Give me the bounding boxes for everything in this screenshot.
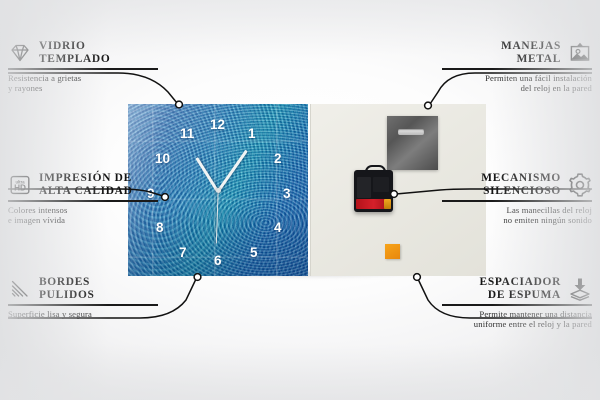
clock-numeral-10: 10	[155, 152, 170, 166]
feature-divider	[8, 200, 158, 201]
feature-bordes-pulidos[interactable]: BORDES PULIDOS Superficie lisa y segura	[8, 276, 158, 319]
battery-cap	[384, 199, 391, 209]
clock-numeral-1: 1	[248, 127, 256, 141]
diamond-icon	[8, 41, 32, 65]
feature-manejas-metal[interactable]: MANEJAS METAL Permiten una fácil instala…	[442, 40, 592, 94]
feature-title: MANEJAS METAL	[501, 40, 561, 65]
feature-divider	[8, 68, 158, 69]
feature-mecanismo-silencioso[interactable]: MECANISMO SILENCIOSO Las manecillas del …	[442, 172, 592, 226]
feature-title: ESPACIADOR DE ESPUMA	[480, 276, 561, 301]
clock-numeral-5: 5	[250, 246, 258, 260]
feature-header: MECANISMO SILENCIOSO	[442, 172, 592, 197]
hanger-keyhole-slot	[398, 129, 424, 135]
clock-numeral-11: 11	[180, 127, 194, 141]
metal-hanger-plate	[387, 116, 438, 170]
feature-description: Colores intensos e imagen vívida	[8, 205, 158, 226]
picture-frame-hanger-icon	[568, 41, 592, 65]
mechanism-hanging-loop	[365, 165, 386, 176]
feature-title: BORDES PULIDOS	[39, 276, 95, 301]
feature-header: ultra HD IMPRESIÓN DE ALTA CALIDAD	[8, 172, 158, 197]
feature-description: Permiten una fácil instalación del reloj…	[442, 73, 592, 94]
feature-title: VIDRIO TEMPLADO	[39, 40, 110, 65]
clock-mechanism-box	[354, 170, 393, 212]
clock-numeral-4: 4	[274, 221, 282, 235]
feature-impresion-alta-calidad[interactable]: ultra HD IMPRESIÓN DE ALTA CALIDAD Color…	[8, 172, 158, 226]
feature-header: BORDES PULIDOS	[8, 276, 158, 301]
feature-description: Permite mantener una distancia uniforme …	[442, 309, 592, 330]
feature-description: Las manecillas del reloj no emiten ningú…	[442, 205, 592, 226]
feature-divider	[442, 304, 592, 305]
feature-description: Resistencia a grietas y rayones	[8, 73, 158, 94]
feature-espaciador-espuma[interactable]: ESPACIADOR DE ESPUMA Permite mantener un…	[442, 276, 592, 330]
gear-icon	[568, 173, 592, 197]
feature-title: IMPRESIÓN DE ALTA CALIDAD	[39, 172, 133, 197]
clock-numeral-7: 7	[179, 246, 187, 260]
feature-header: ESPACIADOR DE ESPUMA	[442, 276, 592, 301]
svg-text:HD: HD	[14, 183, 26, 192]
feature-title: MECANISMO SILENCIOSO	[481, 172, 561, 197]
feature-header: MANEJAS METAL	[442, 40, 592, 65]
foam-spacer	[385, 244, 400, 259]
infographic-canvas: 12 1 2 3 4 5 6 7 8 9 10 11	[0, 0, 600, 400]
feature-vidrio-templado[interactable]: VIDRIO TEMPLADO Resistencia a grietas y …	[8, 40, 158, 94]
feature-description: Superficie lisa y segura	[8, 309, 158, 319]
ultra-hd-icon: ultra HD	[8, 173, 32, 197]
clock-numeral-12: 12	[210, 118, 225, 132]
feature-divider	[442, 68, 592, 69]
clock-numeral-2: 2	[274, 152, 282, 166]
foam-spacer-arrow-icon	[568, 277, 592, 301]
polished-edges-icon	[8, 277, 32, 301]
clock-numeral-6: 6	[214, 254, 222, 268]
mechanism-panel-left	[357, 177, 371, 198]
mechanism-panel-right	[373, 177, 389, 192]
feature-divider	[442, 200, 592, 201]
clock-hands-hub	[216, 188, 221, 193]
clock-numeral-3: 3	[283, 187, 291, 201]
feature-header: VIDRIO TEMPLADO	[8, 40, 158, 65]
feature-divider	[8, 304, 158, 305]
product-photo: 12 1 2 3 4 5 6 7 8 9 10 11	[128, 104, 485, 276]
